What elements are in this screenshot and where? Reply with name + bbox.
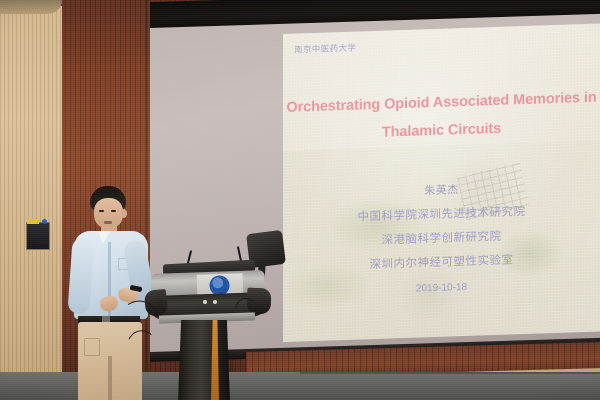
slide-body: 朱英杰 中国科学院深圳先进技术研究院 深港脑科学创新研究院 深圳内尔神经可塑性实… (283, 173, 600, 306)
podium-column (178, 320, 230, 400)
institution-emblem-icon (211, 277, 228, 294)
projected-slide: 南京中医药大学 Orchestrating Opioid Associated … (283, 23, 600, 342)
light-wood-column (0, 6, 62, 400)
slide-university-header: 南京中医药大学 (294, 42, 356, 56)
podium-button-2[interactable] (213, 300, 217, 304)
speaker-mouth (104, 221, 112, 224)
wall-panel-label (27, 219, 39, 224)
speaker-eye-right (111, 210, 116, 212)
wall-panel-indicator-icon (42, 219, 47, 224)
podium-button-1[interactable] (203, 300, 207, 304)
slide-title-line-1: Orchestrating Opioid Associated Memories… (286, 90, 596, 116)
light-wood-column-cap (0, 0, 62, 14)
speaker-face (94, 198, 123, 229)
speaker-leg-seam (108, 356, 112, 400)
speaker-pants-pocket (84, 338, 100, 356)
lecture-hall-photo: 南京中医药大学 Orchestrating Opioid Associated … (0, 0, 600, 400)
speaker-eye-left (99, 210, 104, 212)
floor-seam (300, 372, 600, 374)
slide-title: Orchestrating Opioid Associated Memories… (283, 83, 600, 150)
wall-control-panel[interactable] (26, 222, 50, 250)
speaker-ear (121, 209, 127, 218)
